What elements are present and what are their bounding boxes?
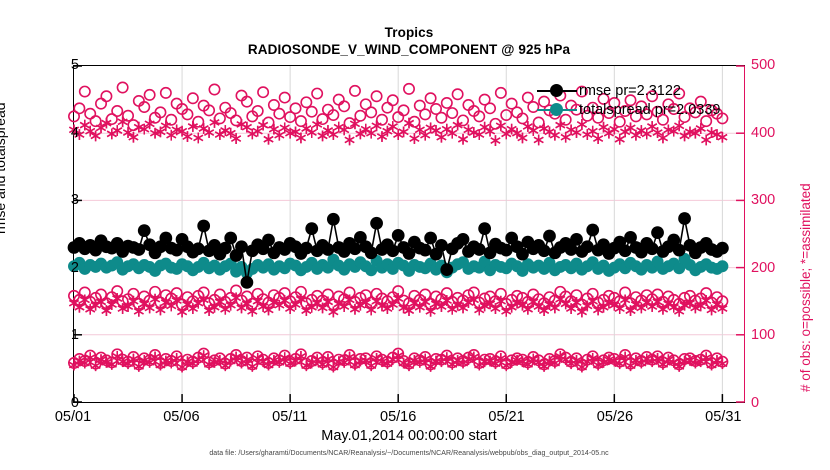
left-tick-label: 4 — [71, 125, 79, 141]
left-tick-label: 1 — [71, 327, 79, 343]
x-tick-label: 05/11 — [272, 409, 307, 425]
legend-marker-swatch — [537, 82, 577, 100]
legend-dot-icon — [550, 103, 563, 116]
chart-title: Tropics RADIOSONDE_V_WIND_COMPONENT @ 92… — [73, 24, 745, 59]
data-file-caption: data file: /Users/gharamti/Documents/NCA… — [73, 450, 745, 457]
x-tick-label: 05/01 — [55, 409, 91, 425]
right-axis-label: # of obs: o=possible; *=assimilated — [798, 183, 813, 392]
legend-marker-swatch — [537, 101, 577, 119]
figure-canvas: Tropics RADIOSONDE_V_WIND_COMPONENT @ 92… — [0, 0, 830, 470]
chart-legend: rmse pr=2.3122totalspread pr=2.0339 — [537, 81, 737, 119]
legend-item: rmse pr=2.3122 — [537, 81, 737, 100]
left-tick-label: 2 — [71, 260, 79, 276]
right-tick-label: 0 — [751, 395, 759, 411]
left-tick-label: 5 — [71, 57, 79, 73]
title-line-1: Tropics — [73, 24, 745, 41]
title-line-2: RADIOSONDE_V_WIND_COMPONENT @ 925 hPa — [73, 41, 745, 58]
legend-label: rmse pr=2.3122 — [577, 83, 681, 99]
x-tick-label: 05/21 — [488, 409, 524, 425]
legend-label: totalspread pr=2.0339 — [577, 102, 720, 118]
right-tick-label: 400 — [751, 125, 775, 141]
right-tick-label: 500 — [751, 57, 775, 73]
x-tick-label: 05/26 — [597, 409, 633, 425]
right-tick-label: 300 — [751, 192, 775, 208]
right-tick-label: 100 — [751, 327, 775, 343]
legend-item: totalspread pr=2.0339 — [537, 100, 737, 119]
x-tick-label: 05/31 — [705, 409, 741, 425]
x-tick-label: 05/06 — [163, 409, 199, 425]
right-tick-label: 200 — [751, 260, 775, 276]
x-axis-label: May.01,2014 00:00:00 start — [73, 428, 745, 444]
left-axis-label: rmse and totalspread — [0, 102, 8, 234]
x-tick-label: 05/16 — [380, 409, 416, 425]
left-tick-label: 3 — [71, 192, 79, 208]
legend-dot-icon — [550, 84, 563, 97]
